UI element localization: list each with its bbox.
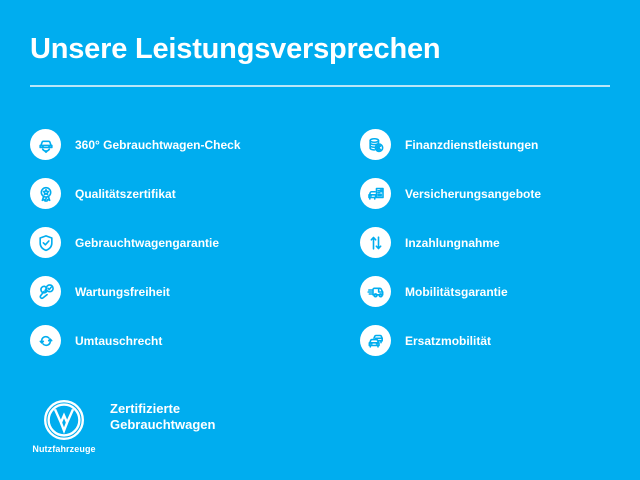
title-divider bbox=[30, 85, 610, 87]
coins-euro-icon bbox=[360, 129, 391, 160]
exchange-arrows-icon bbox=[30, 325, 61, 356]
brand-block: Nutzfahrzeuge bbox=[30, 398, 98, 454]
footer-line-2: Gebrauchtwagen bbox=[110, 417, 215, 433]
promo-poster: Unsere Leistungsversprechen 360° Gebrauc… bbox=[0, 0, 640, 480]
feature-item[interactable]: Versicherungsangebote bbox=[360, 169, 630, 218]
feature-item[interactable]: Umtauschrecht bbox=[30, 316, 340, 365]
feature-item[interactable]: Wartungsfreiheit bbox=[30, 267, 340, 316]
feature-label: Wartungsfreiheit bbox=[75, 285, 170, 299]
wrench-check-icon bbox=[30, 276, 61, 307]
feature-label: Inzahlungnahme bbox=[405, 236, 500, 250]
feature-label: Mobilitätsgarantie bbox=[405, 285, 508, 299]
feature-label: Umtauschrecht bbox=[75, 334, 162, 348]
shield-check-icon bbox=[30, 227, 61, 258]
feature-item[interactable]: Inzahlungnahme bbox=[360, 218, 630, 267]
feature-item[interactable]: Gebrauchtwagengarantie bbox=[30, 218, 340, 267]
feature-item[interactable]: Finanzdienstleistungen bbox=[360, 120, 630, 169]
up-down-arrows-icon bbox=[360, 227, 391, 258]
brand-subtitle: Nutzfahrzeuge bbox=[32, 444, 95, 454]
footer-line-1: Zertifizierte bbox=[110, 401, 215, 417]
footer-text: Zertifizierte Gebrauchtwagen bbox=[110, 401, 215, 433]
footer: Nutzfahrzeuge Zertifizierte Gebrauchtwag… bbox=[30, 398, 215, 454]
two-cars-icon bbox=[360, 325, 391, 356]
car-360-check-icon bbox=[30, 129, 61, 160]
feature-item[interactable]: 360° Gebrauchtwagen-Check bbox=[30, 120, 340, 169]
feature-item[interactable]: Ersatzmobilität bbox=[360, 316, 630, 365]
features-column-left: 360° Gebrauchtwagen-Check Qualitätszerti… bbox=[30, 120, 340, 365]
car-insurance-document-icon bbox=[360, 178, 391, 209]
feature-item[interactable]: Mobilitätsgarantie bbox=[360, 267, 630, 316]
features-column-right: Finanzdienstleistungen Versicheru bbox=[360, 120, 630, 365]
van-speed-icon bbox=[360, 276, 391, 307]
quality-seal-icon bbox=[30, 178, 61, 209]
feature-label: Versicherungsangebote bbox=[405, 187, 541, 201]
feature-label: Finanzdienstleistungen bbox=[405, 138, 538, 152]
feature-item[interactable]: Qualitätszertifikat bbox=[30, 169, 340, 218]
page-title: Unsere Leistungsversprechen bbox=[30, 31, 440, 67]
feature-label: Qualitätszertifikat bbox=[75, 187, 176, 201]
feature-label: 360° Gebrauchtwagen-Check bbox=[75, 138, 241, 152]
vw-logo-icon bbox=[42, 398, 86, 442]
feature-label: Ersatzmobilität bbox=[405, 334, 491, 348]
feature-label: Gebrauchtwagengarantie bbox=[75, 236, 219, 250]
